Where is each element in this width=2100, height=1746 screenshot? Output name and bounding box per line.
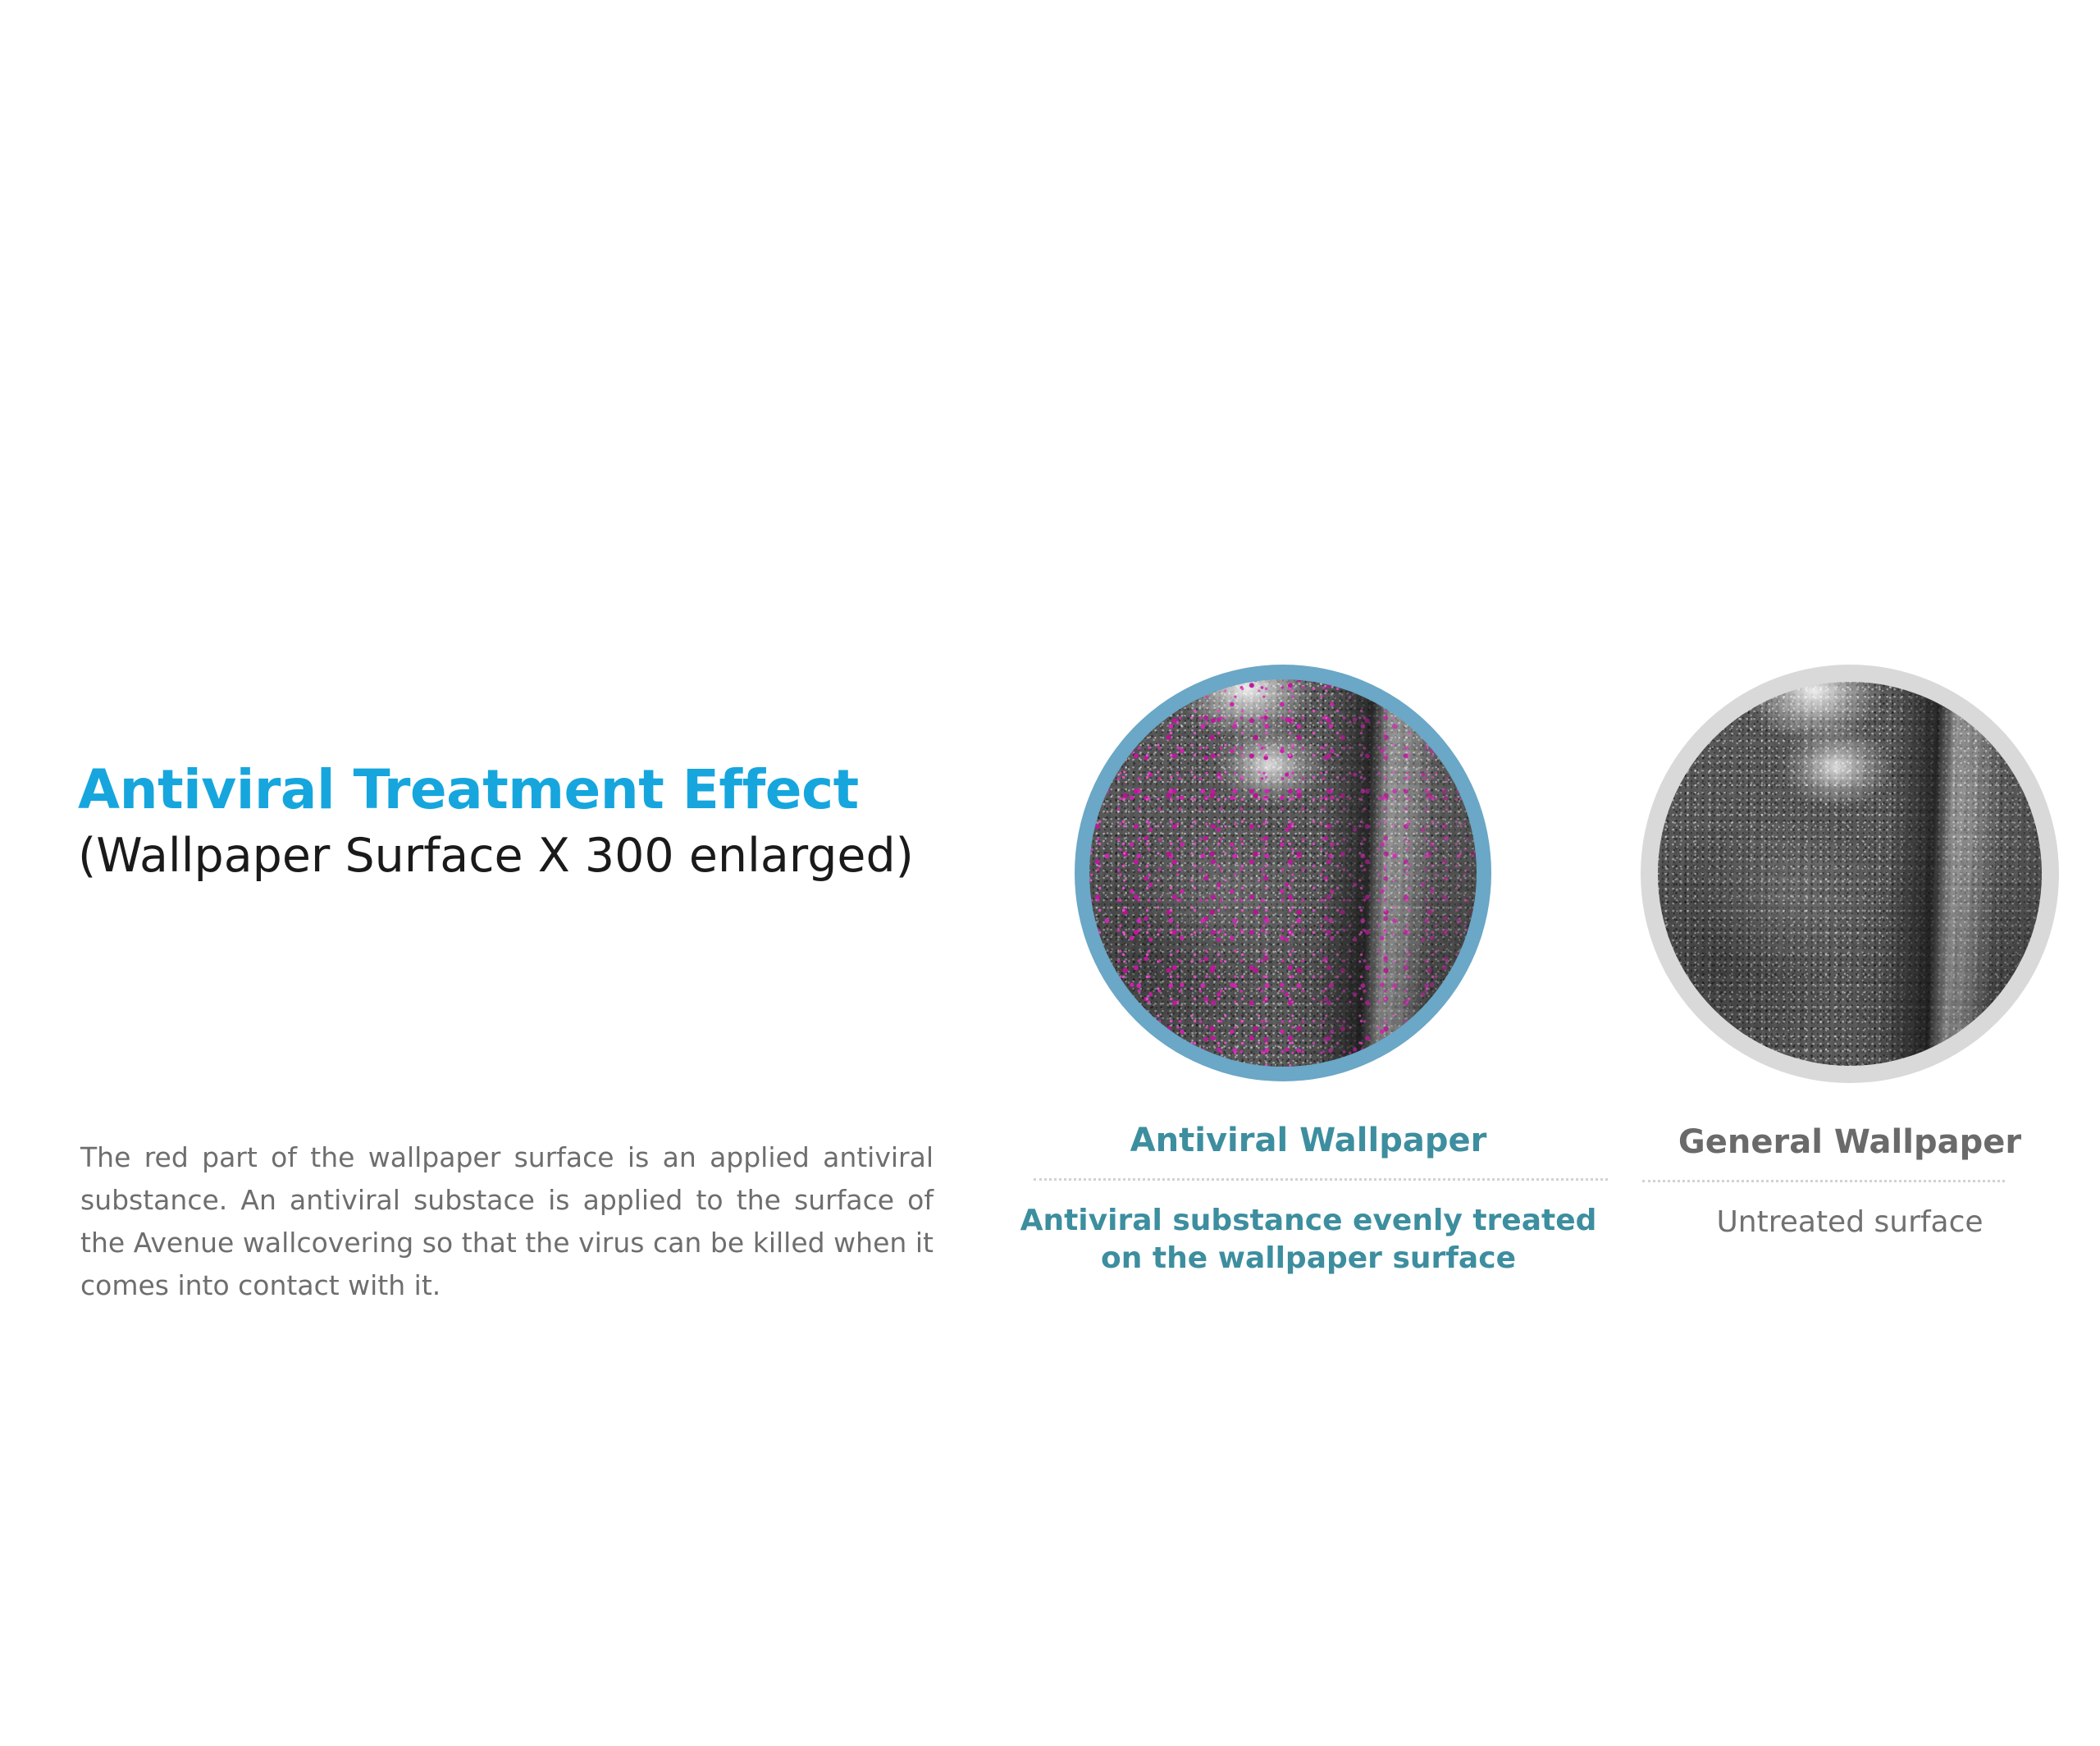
- page-title: Antiviral Treatment Effect: [78, 763, 947, 817]
- general-wallpaper-image: [1641, 665, 2059, 1083]
- wallpaper-texture: [1658, 682, 2042, 1066]
- general-sub-caption: Untreated surface: [1641, 1204, 2059, 1241]
- antiviral-particles-fine: [1089, 679, 1477, 1067]
- general-caption: General Wallpaper: [1641, 1122, 2059, 1162]
- antiviral-caption: Antiviral Wallpaper: [1009, 1121, 1608, 1160]
- antiviral-micrograph: [1089, 679, 1477, 1067]
- figure-antiviral-wallpaper: Antiviral Wallpaper Antiviral substance …: [1009, 665, 1608, 1278]
- antiviral-caption-divider: [1034, 1178, 1608, 1181]
- figure-general-wallpaper: General Wallpaper Untreated surface: [1641, 665, 2059, 1241]
- figure-comparison-group: Antiviral Wallpaper Antiviral substance …: [984, 665, 2075, 1321]
- description-paragraph: The red part of the wallpaper surface is…: [80, 1136, 934, 1308]
- general-micrograph: [1658, 682, 2042, 1066]
- antiviral-wallpaper-image: [1075, 665, 1491, 1081]
- antiviral-sub-caption: Antiviral substance evenly treated on th…: [1009, 1202, 1608, 1278]
- heading-block: Antiviral Treatment Effect (Wallpaper Su…: [78, 763, 947, 881]
- page-subtitle: (Wallpaper Surface X 300 enlarged): [78, 832, 947, 881]
- general-caption-divider: [1642, 1180, 2005, 1182]
